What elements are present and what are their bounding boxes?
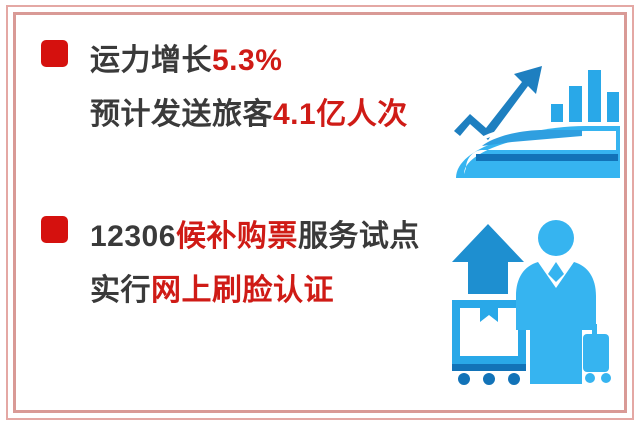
text-lines-ticket-service: 12306候补购票服务试点 实行网上刷脸认证: [90, 210, 420, 318]
trend-arrow-up-icon: [454, 66, 542, 140]
text-segment-highlight: 5.3%: [212, 44, 282, 77]
text-segment-highlight: 候补购票: [176, 220, 298, 253]
text-segment: 12306: [90, 220, 176, 253]
text-segment-highlight: 网上刷脸认证: [151, 274, 334, 307]
text-line: 预计发送旅客4.1亿人次: [90, 88, 408, 142]
passenger-luggage-icon: [452, 218, 624, 378]
text-line: 运力增长5.3%: [90, 34, 408, 88]
info-block-ticket-service: 12306候补购票服务试点 实行网上刷脸认证: [41, 210, 420, 318]
text-segment: 预计发送旅客: [90, 98, 273, 131]
traveler-with-suitcase-icon: [516, 220, 611, 384]
text-segment: 实行: [90, 274, 151, 307]
text-lines-capacity-growth: 运力增长5.3% 预计发送旅客4.1亿人次: [90, 34, 408, 142]
info-block-capacity-growth: 运力增长5.3% 预计发送旅客4.1亿人次: [41, 34, 408, 142]
red-square-bullet-icon: [41, 40, 68, 67]
growth-train-icon: [452, 46, 624, 186]
bar-chart-icon: [551, 70, 619, 122]
text-segment-highlight: 4.1亿人次: [273, 98, 408, 131]
text-line: 实行网上刷脸认证: [90, 264, 420, 318]
red-square-bullet-icon: [41, 216, 68, 243]
text-line: 12306候补购票服务试点: [90, 210, 420, 264]
text-segment: 服务试点: [298, 220, 420, 253]
arrow-up-icon: [452, 224, 524, 294]
poster-canvas: 运力增长5.3% 预计发送旅客4.1亿人次: [0, 0, 640, 426]
box-on-trolley-icon: [452, 304, 526, 385]
high-speed-train-icon: [456, 126, 620, 178]
text-segment: 运力增长: [90, 44, 212, 77]
